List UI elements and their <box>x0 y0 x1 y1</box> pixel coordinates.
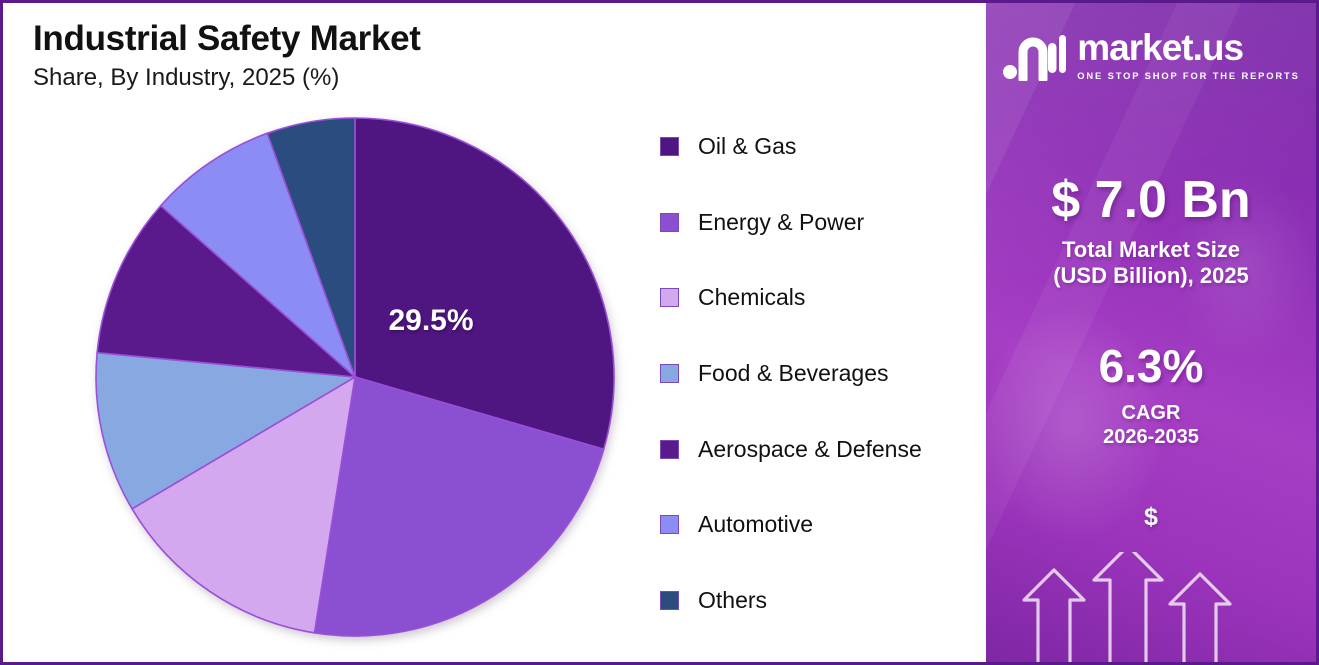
legend-item-others[interactable]: Others <box>660 563 980 639</box>
legend-item-oil-gas[interactable]: Oil & Gas <box>660 109 980 185</box>
legend-label: Automotive <box>698 513 813 536</box>
market-size-value: $ 7.0 Bn <box>986 173 1316 227</box>
chart-area: Industrial Safety Market Share, By Indus… <box>3 3 986 662</box>
market-size-stat: $ 7.0 Bn Total Market Size (USD Billion)… <box>986 173 1316 290</box>
logo-name: market.us <box>1077 29 1243 66</box>
legend-label: Energy & Power <box>698 211 864 234</box>
cagr-caption-line2: 2026-2035 <box>986 425 1316 449</box>
legend-swatch-icon <box>660 137 679 156</box>
legend-label: Oil & Gas <box>698 135 796 158</box>
logo-text: market.us ONE STOP SHOP FOR THE REPORTS <box>1077 29 1299 80</box>
chart-subtitle: Share, By Industry, 2025 (%) <box>33 64 421 92</box>
market-us-logo-icon <box>1002 29 1066 81</box>
legend-swatch-icon <box>660 591 679 610</box>
legend-swatch-icon <box>660 515 679 534</box>
legend-item-chemicals[interactable]: Chemicals <box>660 260 980 336</box>
cagr-caption-line1: CAGR <box>986 401 1316 425</box>
pie-chart: 29.5% <box>94 116 620 642</box>
pie-svg <box>94 116 620 642</box>
legend-label: Aerospace & Defense <box>698 438 922 461</box>
legend-swatch-icon <box>660 288 679 307</box>
legend-label: Chemicals <box>698 286 805 309</box>
chart-header: Industrial Safety Market Share, By Indus… <box>33 19 421 92</box>
side-panel: market.us ONE STOP SHOP FOR THE REPORTS … <box>986 3 1316 662</box>
market-size-caption-line1: Total Market Size <box>986 237 1316 263</box>
infographic-root: Industrial Safety Market Share, By Indus… <box>0 0 1319 665</box>
legend-swatch-icon <box>660 440 679 459</box>
legend-item-aerospace-defense[interactable]: Aerospace & Defense <box>660 411 980 487</box>
market-size-caption-line2: (USD Billion), 2025 <box>986 263 1316 289</box>
legend-item-food-beverages[interactable]: Food & Beverages <box>660 336 980 412</box>
legend-item-energy-power[interactable]: Energy & Power <box>660 185 980 261</box>
legend-label: Food & Beverages <box>698 362 889 385</box>
dollar-symbol-icon: $ <box>986 503 1316 532</box>
growth-arrows-icon <box>986 552 1316 662</box>
legend-swatch-icon <box>660 364 679 383</box>
legend-label: Others <box>698 589 767 612</box>
logo-tagline: ONE STOP SHOP FOR THE REPORTS <box>1077 71 1299 80</box>
legend-swatch-icon <box>660 213 679 232</box>
cagr-stat: 6.3% CAGR 2026-2035 <box>986 343 1316 449</box>
cagr-value: 6.3% <box>986 343 1316 391</box>
page-title: Industrial Safety Market <box>33 19 421 58</box>
legend: Oil & Gas Energy & Power Chemicals Food … <box>660 109 980 638</box>
legend-item-automotive[interactable]: Automotive <box>660 487 980 563</box>
brand-logo[interactable]: market.us ONE STOP SHOP FOR THE REPORTS <box>986 29 1316 81</box>
